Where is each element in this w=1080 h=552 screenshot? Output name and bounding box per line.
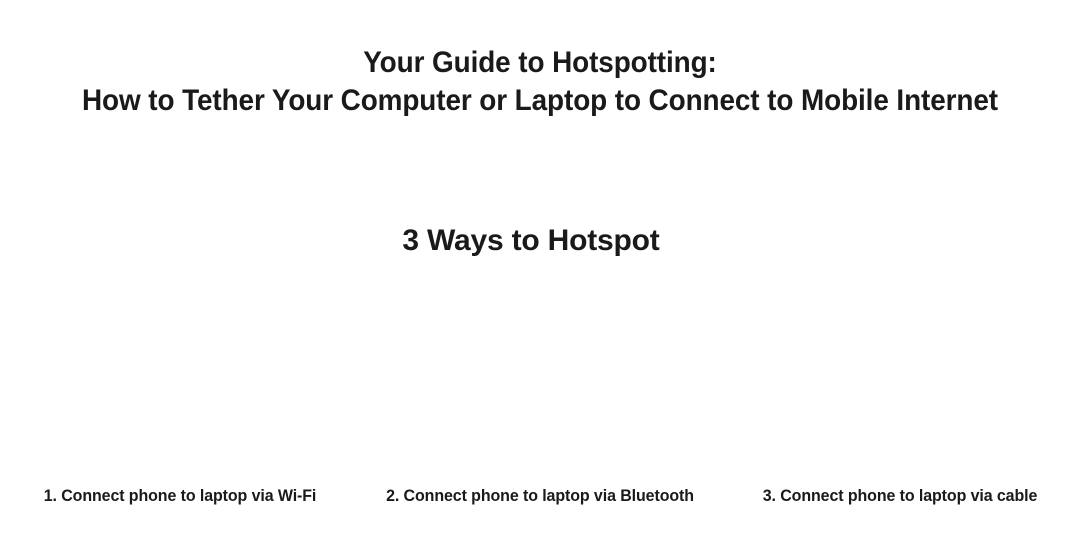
illustration-method-1 [0,272,360,480]
caption-method-3: 3. Connect phone to laptop via cable [731,484,1069,518]
title-line-2: How to Tether Your Computer or Laptop to… [38,82,1042,120]
caption-method-2: 2. Connect phone to laptop via Bluetooth [371,484,709,518]
infographic-page: Your Guide to Hotspotting: How to Tether… [0,0,1080,552]
section-heading-text: 3 Ways to Hotspot [402,222,659,260]
page-title: Your Guide to Hotspotting: How to Tether… [0,44,1080,120]
illustration-method-2 [360,272,720,480]
section-heading: 3 Ways to Hotspot [0,222,1080,260]
caption-row: 1. Connect phone to laptop via Wi-Fi 2. … [0,484,1080,518]
illustration-method-3 [720,272,1080,480]
title-line-1: Your Guide to Hotspotting: [38,44,1042,82]
illustration-band [0,272,1080,480]
caption-method-1: 1. Connect phone to laptop via Wi-Fi [11,484,349,518]
